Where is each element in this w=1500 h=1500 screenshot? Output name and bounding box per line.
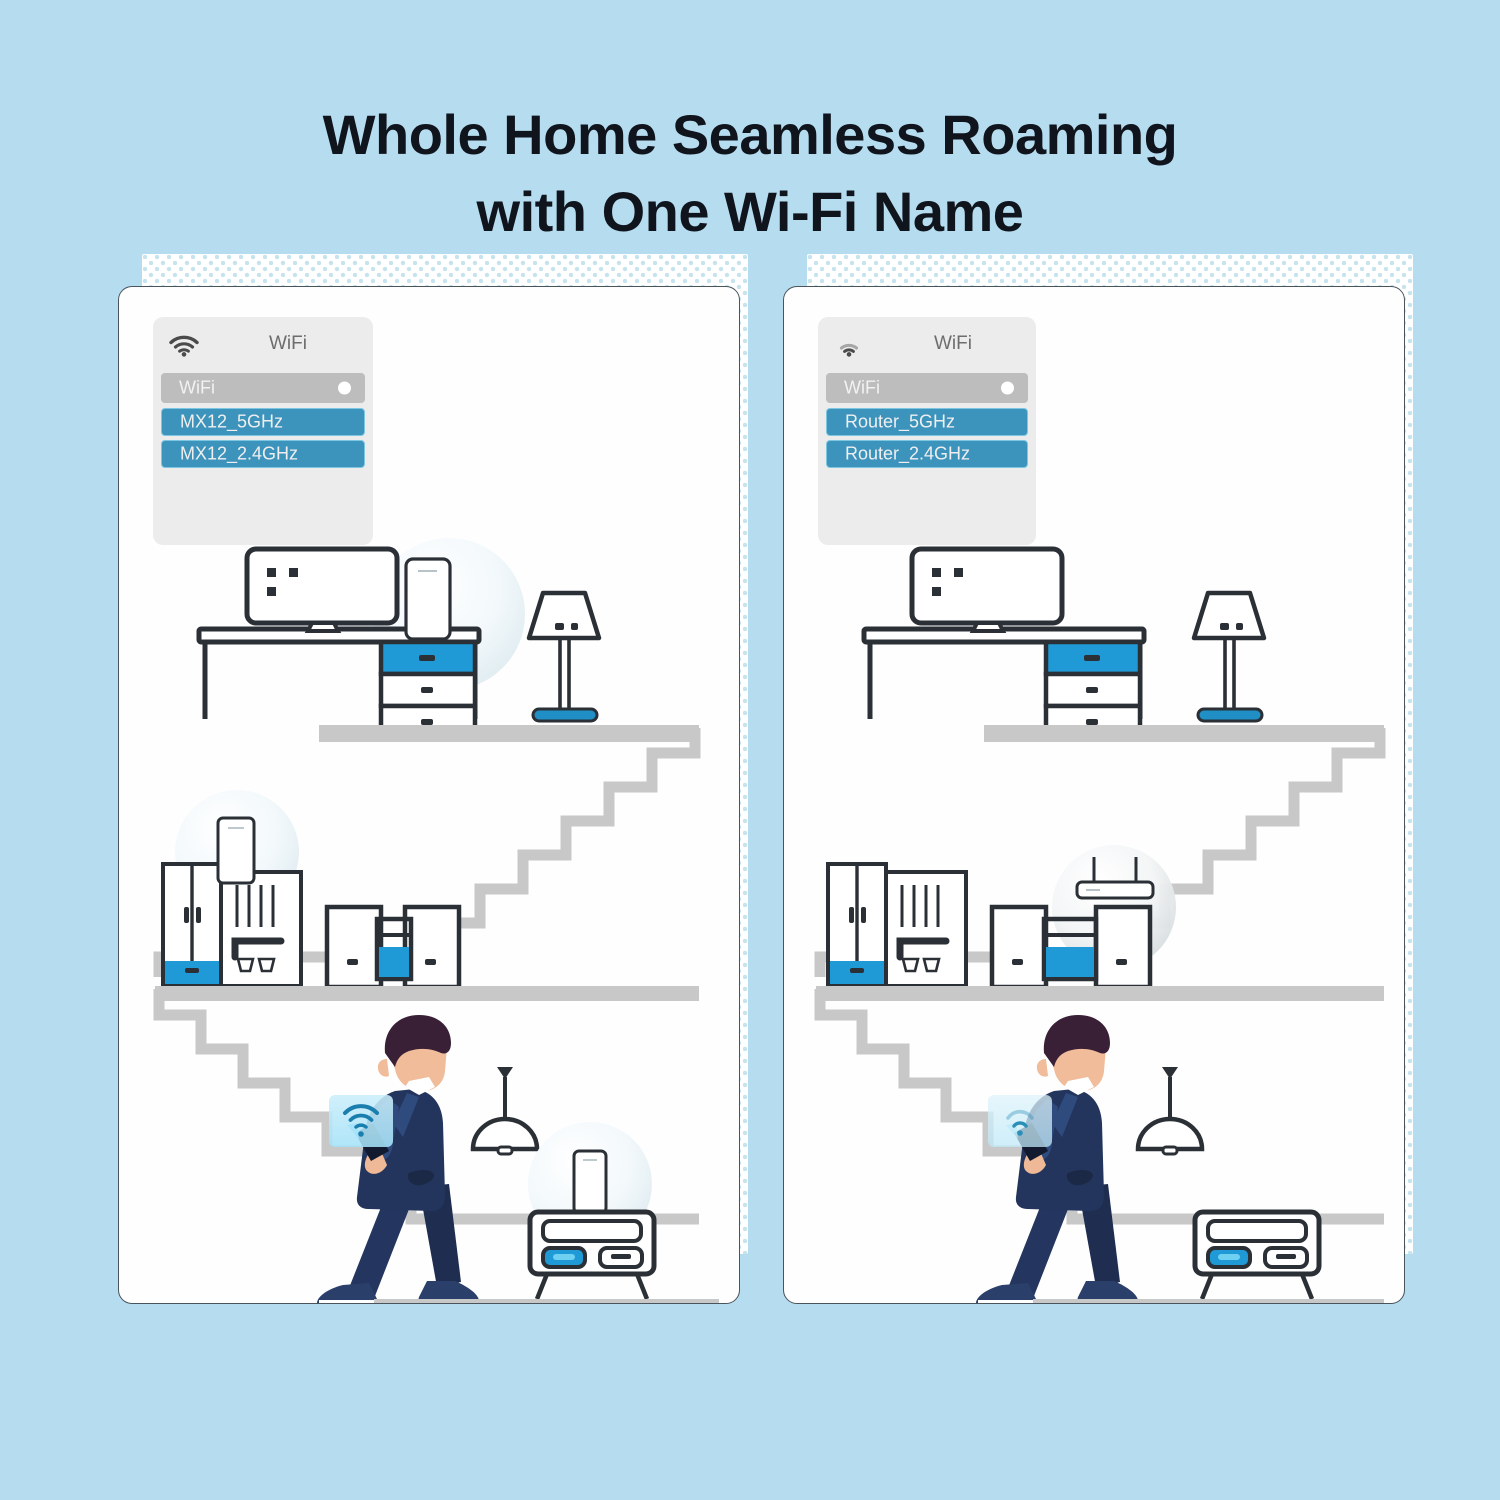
panel-card: WiFi WiFi Router_5GHz Router_2.4GHz — [783, 286, 1405, 1304]
panel-card: WiFi WiFi MX12_5GHz MX12_2.4GHz — [118, 286, 740, 1304]
tv-console — [1195, 1212, 1319, 1299]
kitchen-cabinet — [886, 872, 966, 986]
mesh-node-ground — [574, 1151, 606, 1213]
phone-wifi-indicator — [988, 1095, 1052, 1147]
phone-wifi-indicator — [329, 1095, 393, 1147]
middle-floor-slab — [816, 986, 1384, 1001]
upper-floor-router — [864, 549, 1384, 742]
middle-floor-mesh — [155, 790, 699, 1001]
desk-drawers — [381, 642, 475, 738]
ground-floor-mesh — [317, 1015, 719, 1304]
upper-floor-slab — [319, 725, 699, 742]
middle-floor-slab — [155, 986, 699, 1001]
kitchen-cabinet — [221, 872, 301, 986]
panel-router: WiFi WiFi Router_5GHz Router_2.4GHz — [783, 254, 1413, 1304]
desktop-monitor — [912, 549, 1062, 631]
pendant-lamp — [1138, 1067, 1202, 1154]
mesh-node-upper — [406, 559, 450, 639]
man-walking — [317, 1015, 479, 1304]
mesh-node-middle — [218, 818, 254, 883]
ground-floor-slab — [374, 1299, 719, 1304]
tv-console — [530, 1212, 654, 1299]
shoe — [976, 1283, 1037, 1304]
wardrobe — [828, 864, 886, 986]
desktop-monitor — [247, 549, 397, 631]
ground-floor-slab — [1033, 1299, 1384, 1304]
upper-floor-mesh — [199, 538, 699, 742]
title-line-1: Whole Home Seamless Roaming — [323, 103, 1178, 166]
house-scene-router — [784, 287, 1405, 1304]
floor-lamp — [529, 593, 599, 721]
wardrobe — [163, 864, 221, 986]
tv-bench-group — [327, 907, 459, 987]
man-walking — [976, 1015, 1138, 1304]
middle-floor-router — [816, 845, 1384, 1001]
desk-drawers — [1046, 642, 1140, 738]
pendant-lamp — [473, 1067, 537, 1154]
ground-floor-router — [976, 1015, 1384, 1304]
page-title: Whole Home Seamless Roaming with One Wi-… — [0, 96, 1500, 251]
house-scene-mesh — [119, 287, 740, 1304]
upper-floor-slab — [984, 725, 1384, 742]
illustration-stage: Whole Home Seamless Roaming with One Wi-… — [0, 0, 1500, 1500]
tv-bench-group — [992, 907, 1150, 987]
title-line-2: with One Wi-Fi Name — [0, 173, 1500, 250]
panel-mesh: WiFi WiFi MX12_5GHz MX12_2.4GHz — [118, 254, 748, 1304]
floor-lamp — [1194, 593, 1264, 721]
shoe — [317, 1283, 378, 1304]
